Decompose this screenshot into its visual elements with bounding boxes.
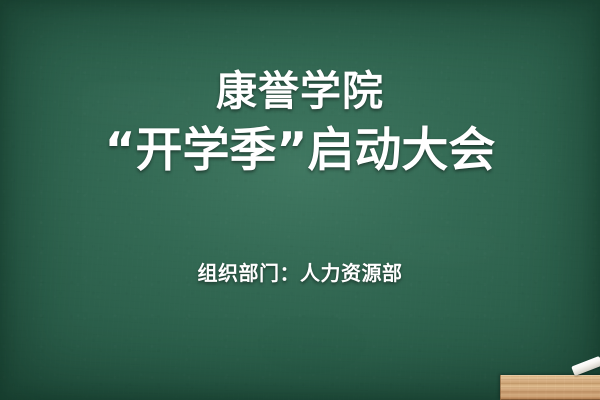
slide-subtitle-organizing-department: 组织部门：人力资源部: [198, 257, 403, 286]
slide-title-line-2: “开学季”启动大会: [105, 125, 496, 178]
chalk-ledge: [500, 375, 600, 400]
wood-grain-texture: [501, 375, 600, 400]
slide-content: 康誉学院 “开学季”启动大会 组织部门：人力资源部: [0, 0, 600, 400]
chalkboard-slide: 康誉学院 “开学季”启动大会 组织部门：人力资源部: [0, 0, 600, 400]
slide-title-line-1: 康誉学院: [216, 69, 384, 115]
